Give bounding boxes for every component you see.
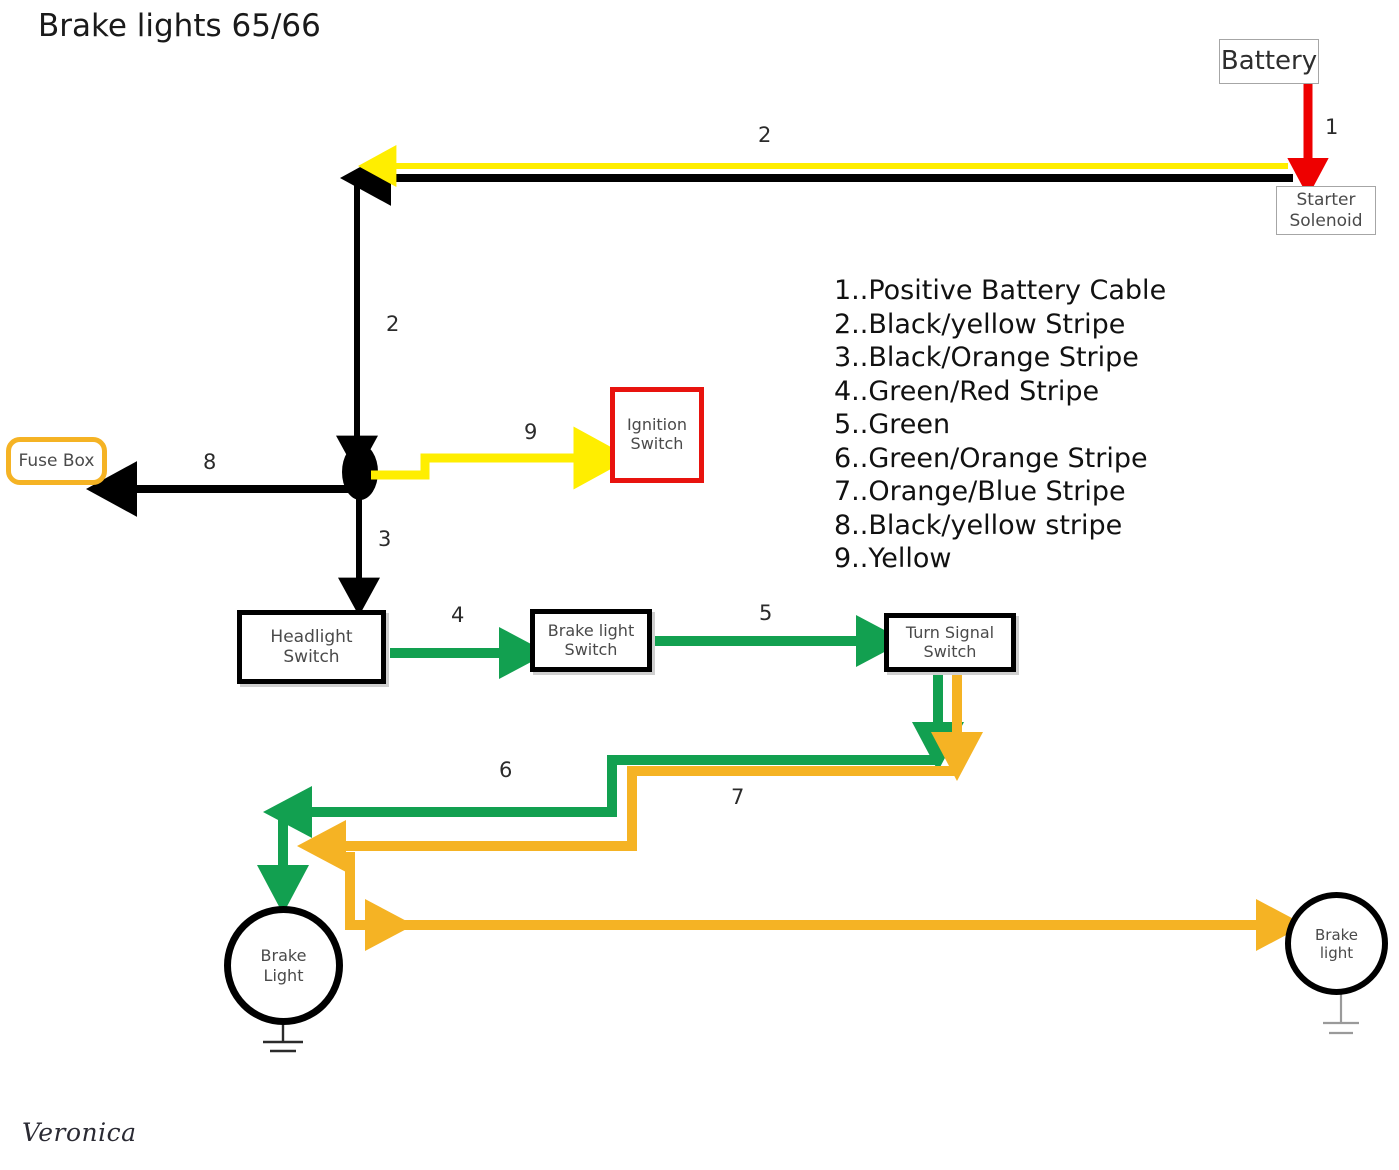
ground-symbol-right [1323,993,1359,1033]
node-ignition-switch-line2: Switch [627,435,687,454]
wire-label-7: 7 [731,785,744,809]
node-starter-solenoid-line1: Starter [1289,190,1362,210]
node-headlight-switch-line2: Switch [270,647,352,667]
wire-label-2-top: 2 [758,123,771,147]
node-fuse-box[interactable]: Fuse Box [6,437,107,485]
wire-label-2-side: 2 [386,312,399,336]
node-brake-light-switch-line1: Brake light [548,622,634,641]
node-brake-light-right[interactable]: Brake light [1285,892,1388,995]
wire-label-3: 3 [378,527,391,551]
legend-item-3: 3..Black/Orange Stripe [834,341,1166,375]
node-headlight-switch[interactable]: Headlight Switch [237,610,386,684]
wire-label-9: 9 [524,420,537,444]
wire-artwork [0,0,1399,1170]
wiring-diagram-canvas: Brake lights 65/66 [0,0,1399,1170]
wire-color-legend: 1..Positive Battery Cable 2..Black/yello… [834,274,1166,576]
legend-item-1: 1..Positive Battery Cable [834,274,1166,308]
legend-item-9: 9..Yellow [834,542,1166,576]
wire-label-1: 1 [1325,115,1338,139]
node-fuse-box-label: Fuse Box [19,451,95,471]
legend-item-7: 7..Orange/Blue Stripe [834,475,1166,509]
node-brake-light-switch[interactable]: Brake light Switch [530,609,652,672]
node-starter-solenoid-line2: Solenoid [1289,211,1362,231]
legend-item-4: 4..Green/Red Stripe [834,375,1166,409]
legend-item-8: 8..Black/yellow stripe [834,509,1166,543]
node-turn-signal-switch[interactable]: Turn Signal Switch [884,613,1016,672]
node-brake-light-switch-line2: Switch [548,641,634,660]
wire-6-green-orange-stripe [283,672,938,885]
node-battery-label: Battery [1221,46,1317,77]
wire-label-4: 4 [451,603,464,627]
wire-9-yellow-to-ignition-switch [371,458,595,475]
node-headlight-switch-line1: Headlight [270,627,352,647]
legend-item-2: 2..Black/yellow Stripe [834,308,1166,342]
wire-label-5: 5 [759,601,772,625]
wire-label-8: 8 [203,450,216,474]
node-brake-light-left[interactable]: Brake Light [224,906,343,1025]
wire-7-orange-blue-stripe [326,672,1276,925]
wire-2-black-yellow-stripe-top [372,166,1293,178]
node-turn-signal-switch-line1: Turn Signal [906,624,994,643]
node-brake-light-right-line1: Brake [1315,926,1358,944]
author-signature: Veronica [22,1118,137,1147]
node-brake-light-left-line2: Light [261,966,307,985]
node-starter-solenoid[interactable]: Starter Solenoid [1276,186,1376,235]
wire-label-6: 6 [499,758,512,782]
node-brake-light-right-line2: light [1315,944,1358,962]
node-ignition-switch[interactable]: Ignition Switch [610,387,704,483]
node-battery[interactable]: Battery [1219,39,1319,84]
legend-item-5: 5..Green [834,408,1166,442]
node-ignition-switch-line1: Ignition [627,416,687,435]
legend-item-6: 6..Green/Orange Stripe [834,442,1166,476]
node-turn-signal-switch-line2: Switch [906,643,994,662]
node-brake-light-left-line1: Brake [261,946,307,965]
